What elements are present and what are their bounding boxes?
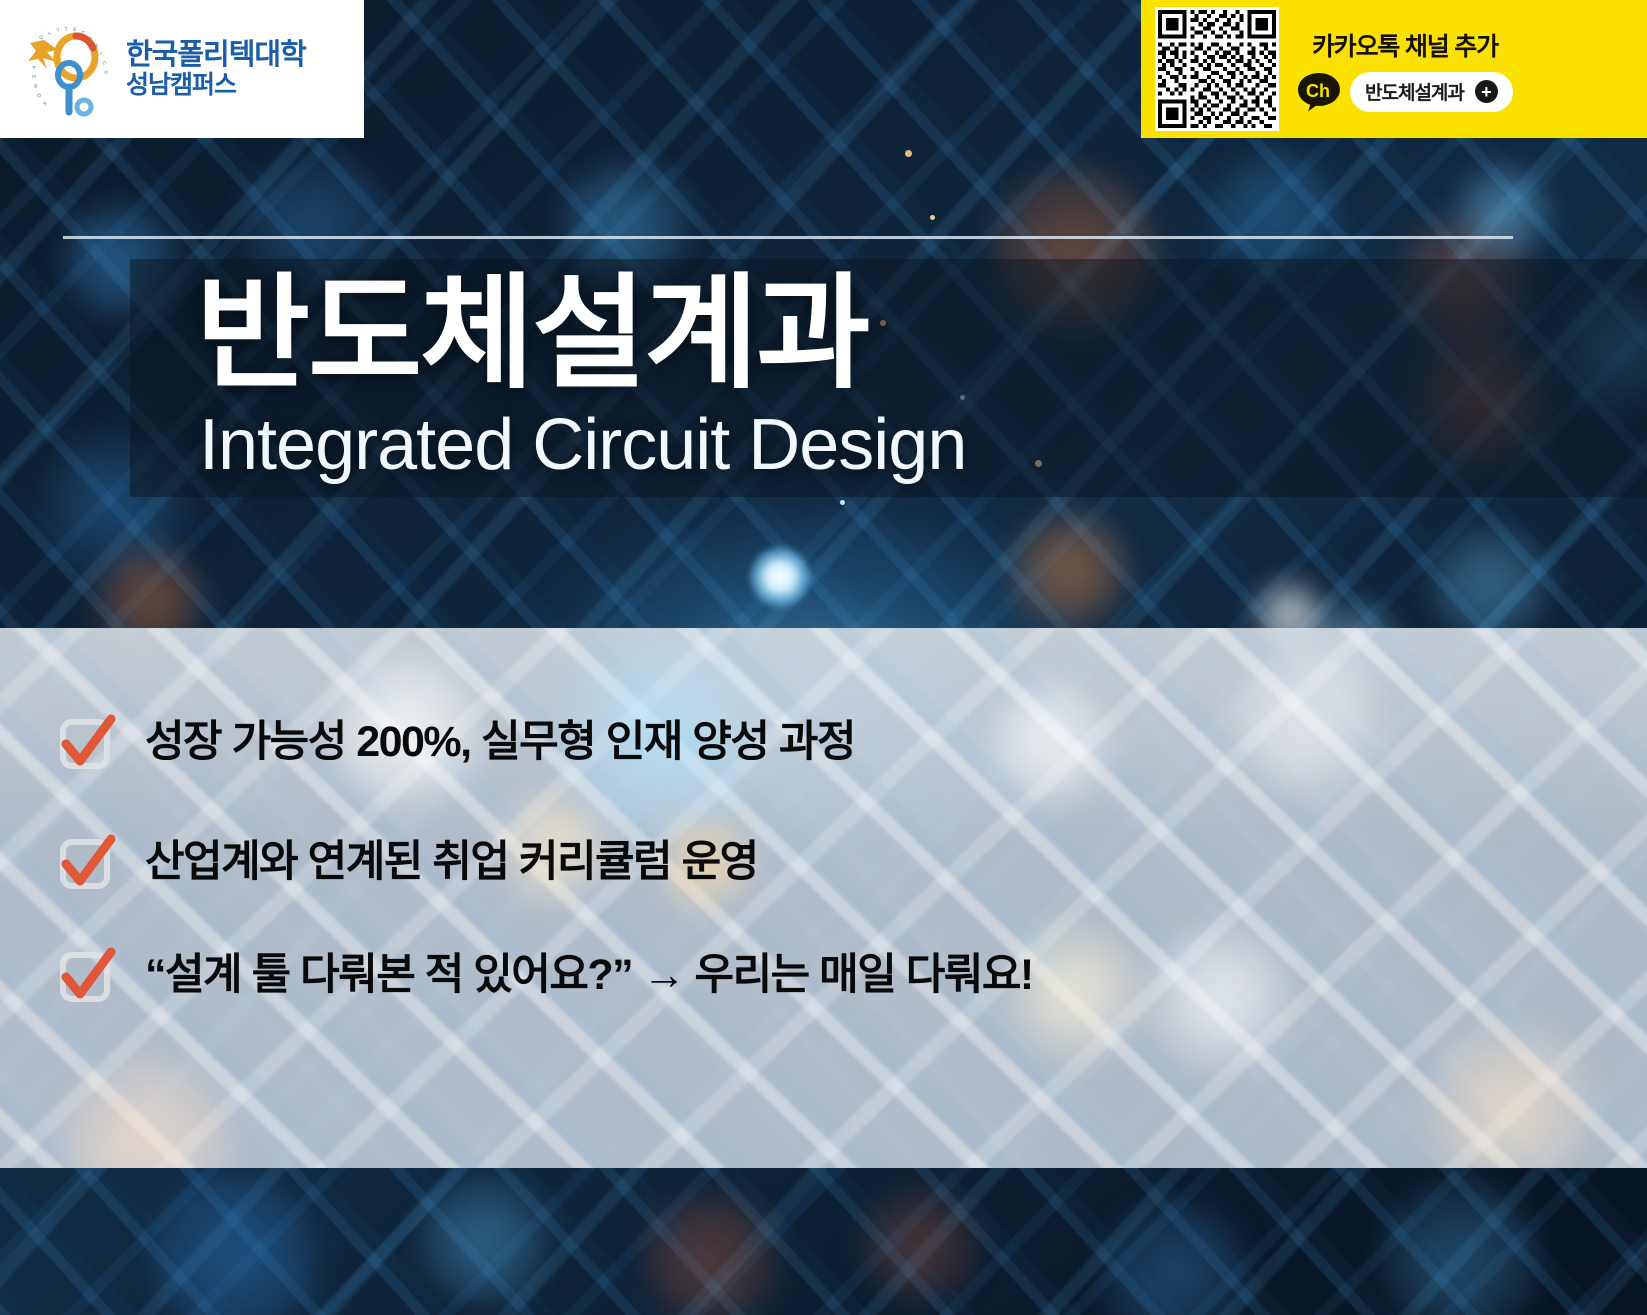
checkbox-checked-icon (57, 833, 117, 893)
list-item-label: 산업계와 연계된 취업 커리큘럼 운영 (145, 839, 758, 886)
korea-polytechnics-logo-icon: P O L Y T E C H N I C S K O R E A (14, 17, 118, 121)
list-item: “설계 툴 다뤄본 적 있어요?” → 우리는 매일 다뤄요! (57, 946, 1033, 1006)
checkbox-checked-icon (57, 713, 117, 773)
poster-root: P O L Y T E C H N I C S K O R E A (0, 0, 1647, 1315)
checkbox-checked-icon (57, 946, 117, 1006)
svg-text:T: T (64, 26, 69, 33)
page-title: 반도체설계과 (196, 272, 868, 396)
kakao-channel-icon: Ch (1297, 72, 1341, 112)
kakao-add-channel-button[interactable]: 반도체설계과 + (1350, 72, 1513, 112)
svg-text:L: L (47, 29, 54, 36)
bokeh-light (1230, 648, 1380, 798)
plus-icon[interactable]: + (1475, 80, 1498, 103)
svg-text:A: A (30, 65, 37, 71)
list-item: 산업계와 연계된 취업 커리큘럼 운영 (57, 833, 758, 893)
bokeh-light (860, 1185, 980, 1305)
svg-text:C: C (100, 60, 107, 66)
bokeh-light (1430, 525, 1550, 645)
logo-line-1: 한국폴리텍대학 (126, 40, 306, 70)
kakao-content: 카카오톡 채널 추가 Ch 반도체설계과 + (1297, 27, 1513, 112)
list-item-label: 성장 가능성 200%, 실무형 인재 양성 과정 (145, 719, 855, 766)
bokeh-light (1150, 928, 1290, 1068)
check-mark-icon (57, 946, 117, 1006)
spark-particle (930, 215, 935, 220)
kakao-title: 카카오톡 채널 추가 (1312, 27, 1498, 63)
bokeh-light (990, 683, 1110, 803)
svg-text:Ch: Ch (1306, 81, 1330, 101)
svg-text:K: K (40, 100, 47, 106)
svg-text:E: E (30, 75, 36, 80)
kakao-channel-row[interactable]: Ch 반도체설계과 + (1297, 72, 1513, 112)
bokeh-light (1455, 165, 1550, 260)
svg-text:S: S (102, 70, 109, 75)
page-subtitle: Integrated Circuit Design (199, 409, 966, 481)
svg-text:O: O (35, 92, 42, 98)
university-logo-box: P O L Y T E C H N I C S K O R E A (0, 0, 364, 138)
logo-text: 한국폴리텍대학 성남캠퍼스 (126, 40, 306, 98)
logo-line-2: 성남캠퍼스 (126, 72, 306, 98)
spark-particle (840, 500, 845, 505)
spark-particle (905, 150, 912, 157)
info-panel-circuit-traces (0, 628, 1647, 1168)
title-divider (63, 236, 1513, 239)
qr-code-icon[interactable] (1155, 7, 1279, 131)
info-panel (0, 628, 1647, 1168)
kakao-channel-name: 반도체설계과 (1365, 78, 1464, 105)
svg-text:E: E (73, 27, 77, 33)
kakao-channel-banner[interactable]: 카카오톡 채널 추가 Ch 반도체설계과 + (1141, 0, 1647, 138)
check-mark-icon (57, 713, 117, 773)
bokeh-light (420, 1175, 550, 1305)
check-mark-icon (57, 833, 117, 893)
list-item: 성장 가능성 200%, 실무형 인재 양성 과정 (57, 713, 855, 773)
svg-text:Y: Y (56, 27, 62, 34)
bokeh-light (1010, 510, 1130, 630)
list-item-label: “설계 툴 다뤄본 적 있어요?” → 우리는 매일 다뤄요! (145, 952, 1033, 999)
svg-text:R: R (32, 84, 38, 89)
background-glow-core (749, 546, 811, 608)
